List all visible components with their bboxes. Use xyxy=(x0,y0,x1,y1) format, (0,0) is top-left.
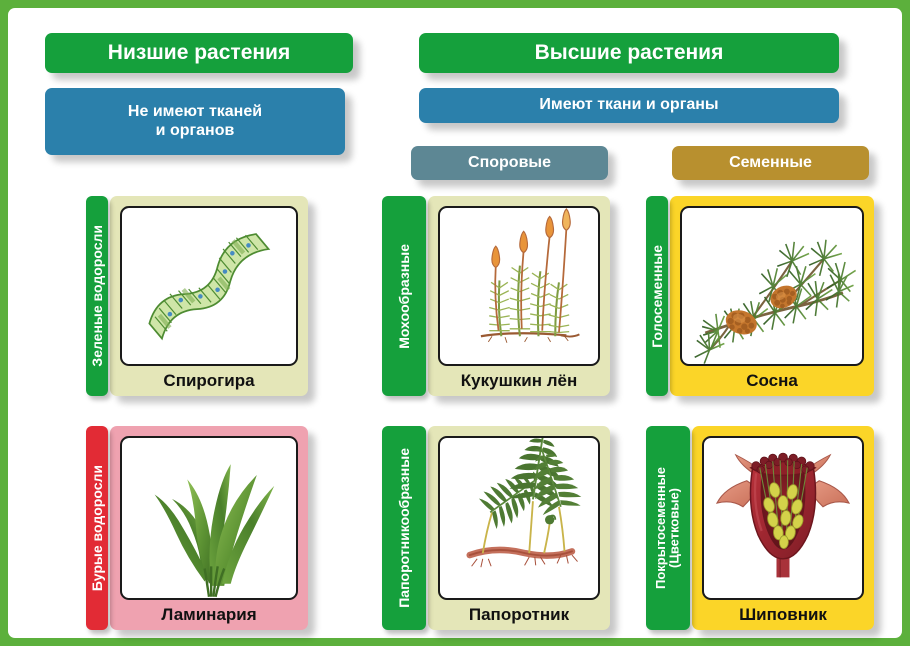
card-brown-algae-group-label: Бурые водоросли xyxy=(90,465,105,591)
laminaria-kelp-icon xyxy=(122,438,296,600)
card-angiosperms: Покрытосеменные (Цветковые) xyxy=(646,426,874,630)
lower-plants-title: Низшие растения xyxy=(45,33,353,73)
card-bryophytes-tab: Мохообразные xyxy=(382,196,426,396)
card-gymnosperms-tab: Голосеменные xyxy=(646,196,668,396)
card-ferns-tab: Папоротникообразные xyxy=(382,426,426,630)
lower-plants-description: Не имеют тканей и органов xyxy=(45,88,345,155)
higher-plants-title: Высшие растения xyxy=(419,33,839,73)
poster-frame: Низшие растения Не имеют тканей и органо… xyxy=(0,0,910,646)
card-angiosperms-group-label: Покрытосеменные (Цветковые) xyxy=(654,467,681,589)
card-green-algae-species: Спирогира xyxy=(120,366,298,396)
card-ferns-group-label: Папоротникообразные xyxy=(397,448,412,608)
card-green-algae-picture xyxy=(120,206,298,366)
card-brown-algae-body: Ламинария xyxy=(110,426,308,630)
card-ferns-body: Папоротник xyxy=(428,426,610,630)
card-ferns: Папоротникообразные xyxy=(382,426,610,630)
poster-inner: Низшие растения Не имеют тканей и органо… xyxy=(8,8,902,638)
fern-frond-icon xyxy=(440,438,598,579)
pine-branch-cones-icon xyxy=(682,208,862,366)
card-brown-algae-tab: Бурые водоросли xyxy=(86,426,108,630)
card-angiosperms-tab: Покрытосеменные (Цветковые) xyxy=(646,426,690,630)
card-brown-algae-picture xyxy=(120,436,298,600)
card-angiosperms-species: Шиповник xyxy=(702,600,864,630)
card-gymnosperms-body: Сосна xyxy=(670,196,874,396)
card-brown-algae-species: Ламинария xyxy=(120,600,298,630)
card-angiosperms-picture xyxy=(702,436,864,600)
card-bryophytes-species: Кукушкин лён xyxy=(438,366,600,396)
card-green-algae-tab: Зеленые водоросли xyxy=(86,196,108,396)
card-green-algae-body: Спирогира xyxy=(110,196,308,396)
card-green-algae: Зеленые водоросли xyxy=(86,196,308,396)
card-ferns-species: Папоротник xyxy=(438,600,600,630)
card-ferns-picture xyxy=(438,436,600,600)
card-bryophytes-picture xyxy=(438,206,600,366)
card-gymnosperms: Голосеменные xyxy=(646,196,874,396)
card-brown-algae: Бурые водоросли xyxy=(86,426,308,630)
higher-plants-description: Имеют ткани и органы xyxy=(419,88,839,123)
card-bryophytes-body: Кукушкин лён xyxy=(428,196,610,396)
card-gymnosperms-picture xyxy=(680,206,864,366)
card-gymnosperms-species: Сосна xyxy=(680,366,864,396)
spirogyra-filament-icon xyxy=(122,208,296,366)
card-angiosperms-body: Шиповник xyxy=(692,426,874,630)
moss-sporophyte-icon xyxy=(440,208,598,347)
card-bryophytes: Мохообразные xyxy=(382,196,610,396)
subgroup-spore-label: Споровые xyxy=(411,146,608,180)
subgroup-seed-label: Семенные xyxy=(672,146,869,180)
rosehip-flower-section-icon xyxy=(704,438,862,579)
card-gymnosperms-group-label: Голосеменные xyxy=(650,245,665,348)
card-bryophytes-group-label: Мохообразные xyxy=(397,244,412,349)
card-green-algae-group-label: Зеленые водоросли xyxy=(90,225,105,367)
